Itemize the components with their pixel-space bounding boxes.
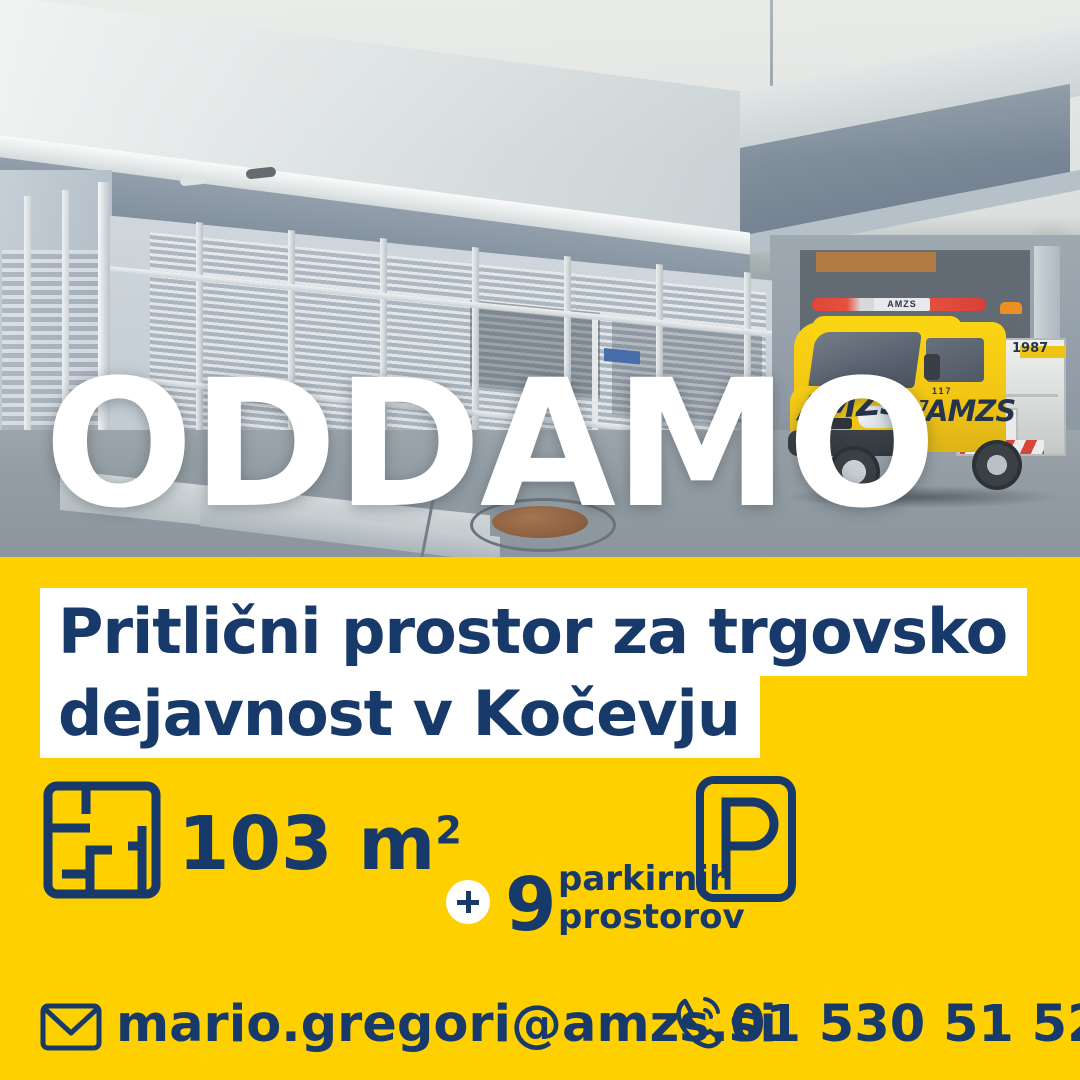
phone-icon [672, 993, 728, 1051]
envelope-icon [40, 1003, 102, 1051]
area-number: 103 m [178, 801, 435, 887]
title-line-2: dejavnost v Kočevju [40, 670, 760, 758]
contact-row: mario.gregori@amzs.si 01 530 51 52 [0, 985, 1080, 1075]
contact-phone[interactable]: 01 530 51 52 [730, 993, 1080, 1057]
adjacent-bay-sign [816, 252, 936, 272]
parking-p-icon [694, 774, 798, 904]
area-value: 103 m2 [178, 805, 462, 883]
parking-count: 9 [505, 868, 557, 942]
area-exponent: 2 [435, 808, 461, 852]
truck-year-badge-secondary: 1987 [1012, 342, 1056, 356]
stats-row: 103 m2 9 parkirnih prostorov [0, 772, 1080, 922]
plus-badge-icon [446, 880, 490, 924]
floorplan-icon [42, 780, 162, 900]
poster: AMZS 117 AMZS 1987 117 AMZS 1987 ODDAMO … [0, 0, 1080, 1080]
headline-oddamo: ODDAMO [0, 360, 1080, 530]
truck-lightbar-label: AMZS [874, 298, 930, 311]
title-line-1: Pritlični prostor za trgovsko [40, 588, 1027, 676]
truck-beacon [1000, 302, 1022, 314]
info-panel: Pritlični prostor za trgovsko dejavnost … [0, 557, 1080, 1080]
